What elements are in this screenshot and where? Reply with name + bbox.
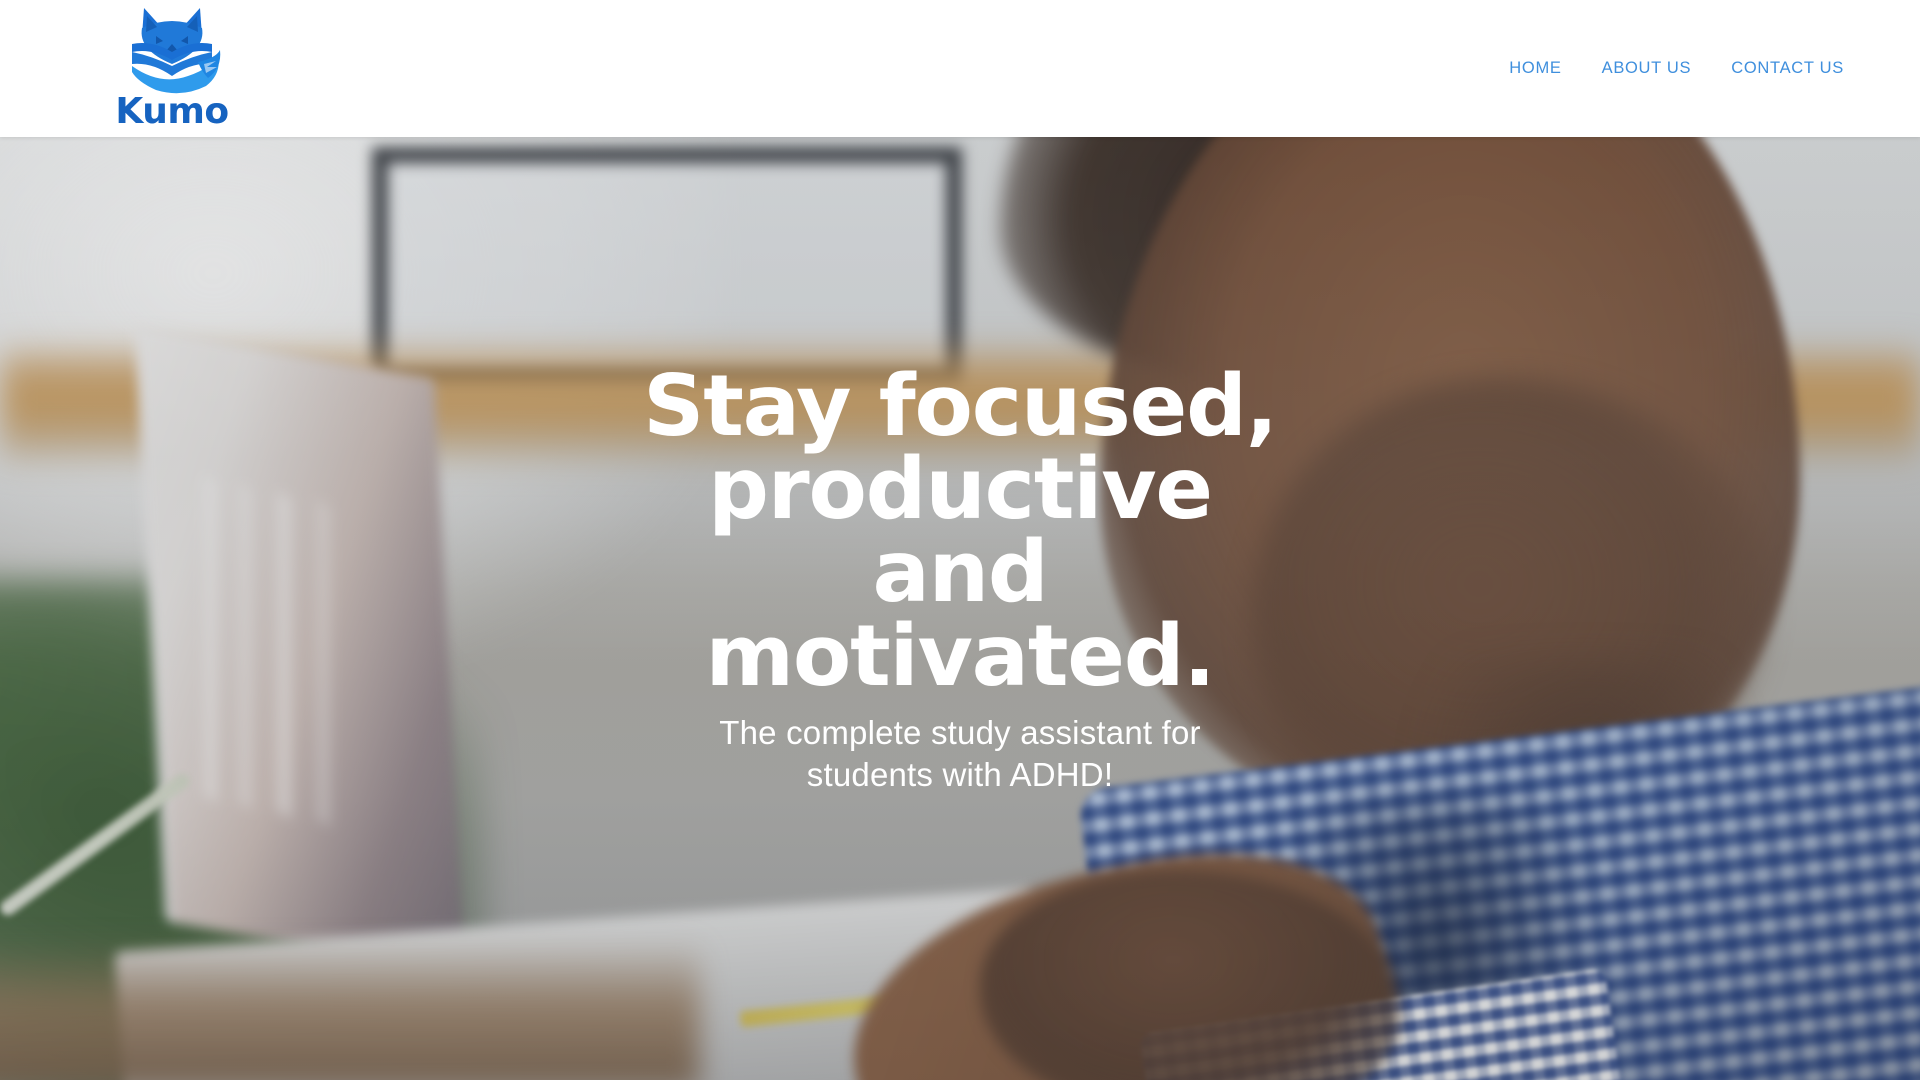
nav-item-home[interactable]: HOME xyxy=(1489,59,1581,78)
main-navigation: HOME ABOUT US CONTACT US xyxy=(1489,0,1864,137)
hero-headline: Stay focused, productive and motivated. xyxy=(640,365,1280,698)
site-header: kumo HOME ABOUT US CONTACT US xyxy=(0,0,1920,137)
brand-logo-link[interactable]: kumo xyxy=(106,2,238,132)
nav-item-contact-us[interactable]: CONTACT US xyxy=(1711,59,1864,78)
hero-subheadline: The complete study assistant for student… xyxy=(660,712,1260,796)
hero-section: Stay focused, productive and motivated. … xyxy=(0,137,1920,1080)
nav-item-about-us[interactable]: ABOUT US xyxy=(1582,59,1712,78)
fox-with-book-logo-icon xyxy=(118,2,226,96)
brand-wordmark: kumo xyxy=(115,94,228,130)
hero-content: Stay focused, productive and motivated. … xyxy=(0,137,1920,1080)
